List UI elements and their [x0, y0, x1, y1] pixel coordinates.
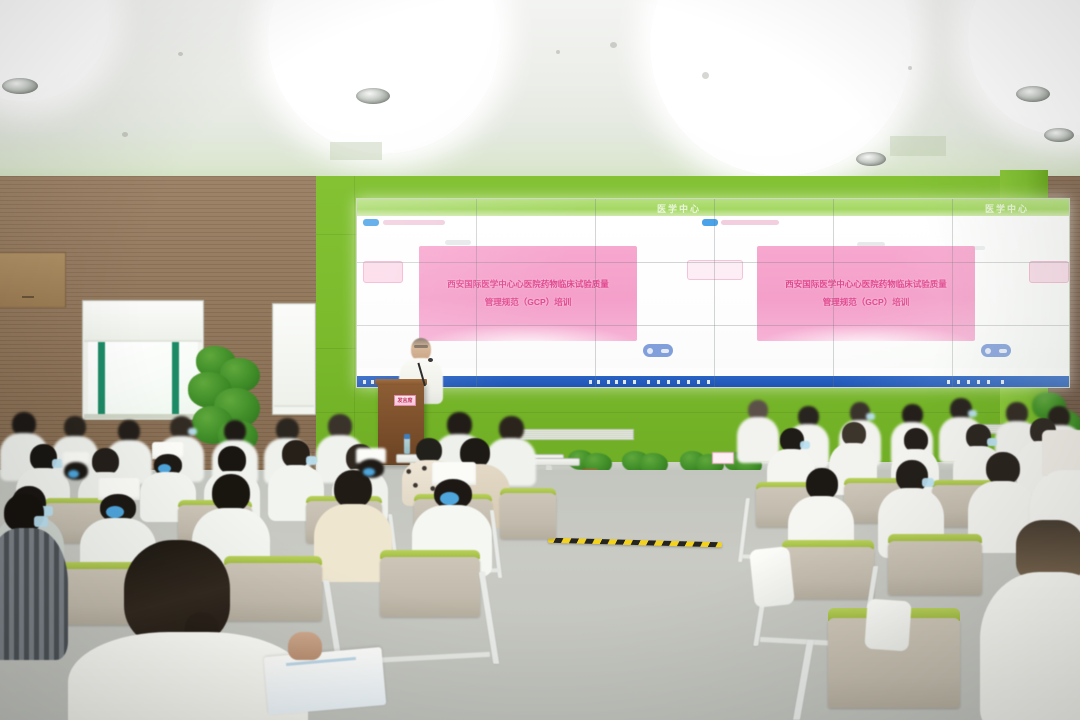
slide-left-title-line1: 西安国际医学中心心医院药物临床试验质量	[419, 278, 637, 290]
audience-right-foreground	[1000, 520, 1080, 720]
ceiling-speck-3	[610, 42, 617, 48]
ceiling-vent-right	[890, 136, 946, 156]
hand-on-notebook	[288, 632, 322, 660]
wall-cabinet	[0, 252, 66, 308]
ceiling-speck-4	[702, 72, 709, 79]
hair-bow-3	[440, 492, 459, 505]
hair-bow-2	[106, 506, 124, 518]
downlight-2	[356, 88, 390, 104]
ceiling-speck-5	[122, 132, 128, 137]
downlight-5	[856, 152, 886, 166]
audience-nurse-far-2	[348, 448, 396, 498]
led-browser-window: 西安国际医学中心心医院药物临床试验质量 管理规范（GCP）培训 西安国际医学中心…	[357, 216, 1069, 368]
microphone-head	[428, 358, 433, 362]
podium-sign: 发言席	[394, 395, 416, 406]
chair-left-a5[interactable]	[500, 488, 556, 544]
slide-left: 西安国际医学中心心医院药物临床试验质量 管理规范（GCP）培训	[419, 246, 637, 341]
audience-foreground-ponytail	[86, 540, 296, 720]
browser-side-chip-2	[1029, 261, 1069, 283]
browser-url-chip-2	[721, 220, 779, 225]
led-band-text: 医学中心	[657, 202, 701, 215]
slide-right-title-line2: 管理规范（GCP）培训	[757, 296, 975, 308]
conference-hall-photo: 医学中心 医学中心 西安国际医学中心心医院药物临床试验质量 管理规范（GCP）培…	[0, 0, 1080, 720]
audience-nurse-far-1	[54, 452, 100, 500]
browser-grey-chip-1	[445, 240, 471, 245]
ceiling-speck-6	[908, 66, 912, 70]
browser-tab-chip-1	[363, 219, 379, 226]
downlight-1	[2, 78, 38, 94]
audience-left-edge-plaid	[0, 494, 64, 654]
aisle-name-card	[712, 452, 734, 464]
windows-taskbar[interactable]	[357, 376, 1069, 387]
chair-left-b3[interactable]	[380, 550, 480, 624]
chair-right-b1[interactable]	[782, 540, 874, 606]
browser-side-chip-1	[363, 261, 403, 283]
led-band-text-2: 医学中心	[985, 202, 1029, 215]
chair-right-b2[interactable]	[888, 534, 982, 602]
browser-center-chip	[687, 260, 743, 280]
cabinet-handle	[22, 296, 34, 298]
folded-coat-right-2	[864, 599, 911, 652]
led-video-wall[interactable]: 医学中心 医学中心 西安国际医学中心心医院药物临床试验质量 管理规范（GCP）培…	[356, 198, 1070, 388]
slide-right: 西安国际医学中心心医院药物临床试验质量 管理规范（GCP）培训	[757, 246, 975, 341]
downlight-4	[1044, 128, 1074, 142]
led-top-band: 医学中心 医学中心	[357, 199, 1069, 216]
ceiling-speck-1	[178, 52, 183, 56]
window-mullion-right	[172, 342, 179, 416]
downlight-3	[1016, 86, 1050, 102]
window-mullion-left	[98, 342, 105, 416]
play-control-left[interactable]	[643, 344, 673, 357]
notebook	[264, 647, 387, 715]
ceiling-vent-left	[330, 142, 382, 160]
presenter-glasses	[414, 345, 428, 348]
podium-top	[375, 379, 427, 385]
browser-url-chip-1	[383, 220, 445, 225]
window-blind-2	[274, 305, 314, 407]
ceiling-speck-2	[556, 50, 560, 54]
slide-left-title-line2: 管理规范（GCP）培训	[419, 296, 637, 308]
folded-coat-right	[749, 546, 795, 608]
play-control-right[interactable]	[981, 344, 1011, 357]
browser-tab-chip-2	[702, 219, 718, 226]
slide-right-title-line1: 西安国际医学中心心医院药物临床试验质量	[757, 278, 975, 290]
window-blind	[84, 302, 202, 342]
